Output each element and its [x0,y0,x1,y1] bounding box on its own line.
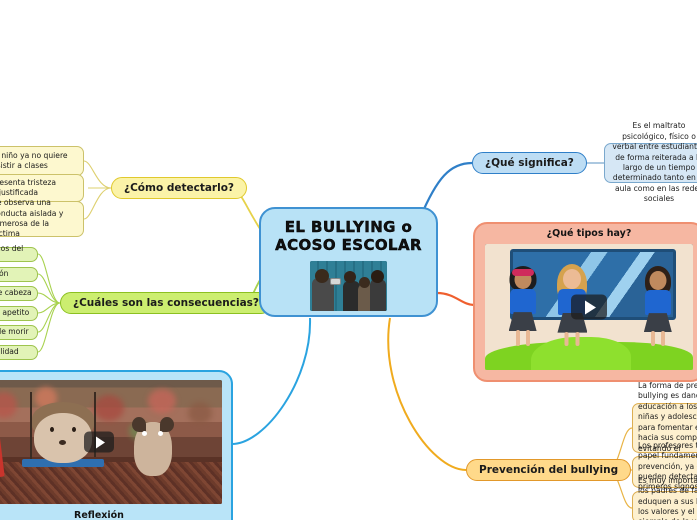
central-title-line-2: ACOSO ESCOLAR [275,236,422,254]
leaf-significa-1[interactable]: Es el maltrato psicológico, físico o ver… [604,143,697,183]
media-card-title: ¿Qué tipos hay? [485,224,693,244]
media-card-reflexion[interactable]: Reflexión [0,370,233,520]
leaf-consecuencias-6[interactable]: Inestabilidad [0,345,38,360]
leaf-text: El niño ya no quiere asistir a clases [0,151,78,172]
leaf-text: Inestabilidad [0,347,19,357]
leaf-text: Dolor de cabeza [0,288,32,298]
classroom-bullying-video-thumbnail[interactable] [485,244,693,370]
leaf-detectarlo-1[interactable]: El niño ya no quiere asistir a clases [0,146,84,176]
branch-cuales-son-las-consecuencias[interactable]: ¿Cuáles son las consecuencias? [60,292,272,314]
leaf-text: Se observa una conducta aislada y temero… [0,198,78,240]
leaf-text: Es muy importante que los padres de fami… [638,476,697,520]
leaf-prevencion-3[interactable]: Es muy importante que los padres de fami… [632,491,697,520]
leaf-detectarlo-3[interactable]: Se observa una conducta aislada y temero… [0,201,84,237]
media-card-title: Reflexión [0,504,222,520]
branch-label: Prevención del bullying [479,464,618,476]
branch-que-significa[interactable]: ¿Qué significa? [472,152,587,174]
play-button-reflexion[interactable] [84,432,114,453]
leaf-text: Trastornos del sueño [0,244,32,265]
branch-label: ¿Cuáles son las consecuencias? [73,297,259,309]
media-card-que-tipos-hay[interactable]: ¿Qué tipos hay? [473,222,697,382]
leaf-consecuencias-5[interactable]: Ganas de morir [0,325,38,340]
leaf-text: Falta de apetito [0,308,29,318]
mindmap-canvas: EL BULLYING o ACOSO ESCOLAR ¿Cómo detect… [0,0,697,520]
leaf-text: Ganas de morir [0,327,29,337]
leaf-consecuencias-3[interactable]: Dolor de cabeza [0,286,38,301]
leaf-consecuencias-4[interactable]: Falta de apetito [0,306,38,321]
branch-label: ¿Cómo detectarlo? [124,182,234,194]
play-button-tipos[interactable] [571,295,607,320]
branch-como-detectarlo[interactable]: ¿Cómo detectarlo? [111,177,247,199]
bullying-photo-thumbnail[interactable] [310,261,387,311]
central-title-line-1: EL BULLYING o [285,218,412,236]
branch-label: ¿Qué significa? [485,157,574,169]
leaf-consecuencias-2[interactable]: Depresión [0,267,38,282]
hedgehog-swing-video-thumbnail[interactable] [0,380,222,504]
leaf-text: Depresión [0,269,9,279]
branch-prevencion-del-bullying[interactable]: Prevención del bullying [466,459,631,481]
leaf-text: Presenta tristeza injustificada [0,178,78,199]
leaf-consecuencias-1[interactable]: Trastornos del sueño [0,247,38,262]
central-topic-node[interactable]: EL BULLYING o ACOSO ESCOLAR [259,207,438,317]
leaf-text: Es el maltrato psicológico, físico o ver… [610,121,697,205]
